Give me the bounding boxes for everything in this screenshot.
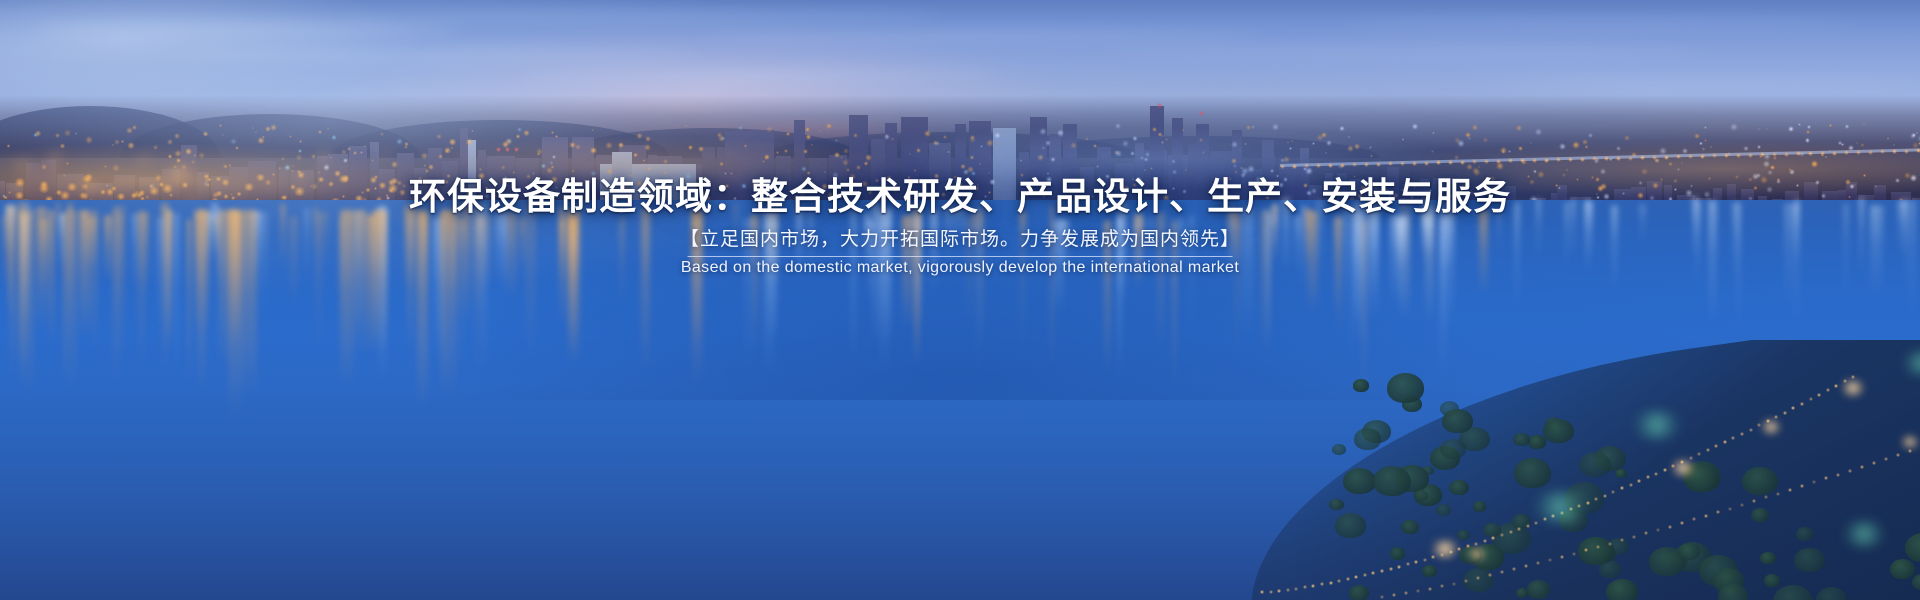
lit-garden — [1840, 520, 1888, 548]
bridge-reflection — [1282, 197, 1290, 274]
light-reflection — [1118, 202, 1128, 307]
bridge-lamp — [1592, 156, 1597, 161]
tree — [1751, 508, 1769, 523]
promenade-lamp — [1884, 457, 1888, 461]
light-reflection — [1188, 215, 1195, 329]
bridge-lamp — [1568, 157, 1573, 162]
light-reflection — [459, 219, 464, 378]
promenade-lamp — [1277, 589, 1281, 593]
light-reflection — [1479, 209, 1488, 295]
light-reflection — [1272, 204, 1278, 264]
tree — [1349, 585, 1369, 600]
tree — [1353, 379, 1369, 391]
promenade-lamp — [1632, 535, 1636, 539]
bridge-reflection — [1564, 202, 1570, 271]
light-reflection — [880, 208, 892, 342]
bright-reflection — [440, 210, 446, 398]
bridge-reflection — [1446, 198, 1451, 271]
promenade-lamp — [1603, 494, 1607, 498]
tree — [1794, 548, 1825, 573]
bridge-lamp — [1868, 150, 1873, 155]
promenade-lamp — [1896, 453, 1900, 457]
tree — [1678, 543, 1700, 561]
bridge-lamp — [1904, 149, 1909, 154]
promenade-lamp — [1800, 402, 1804, 406]
light-reflection — [1496, 210, 1503, 249]
tree — [1543, 419, 1574, 443]
light-reflection — [1235, 211, 1242, 261]
light-reflection — [1050, 205, 1054, 376]
bridge-reflection — [1514, 202, 1520, 307]
promenade-lamp — [1706, 448, 1710, 452]
bridge-lamp — [1448, 160, 1453, 165]
tree — [1343, 468, 1377, 495]
promenade-lamp — [1397, 565, 1401, 569]
tree — [1764, 574, 1780, 587]
light-reflection — [174, 213, 179, 379]
bright-reflection — [241, 210, 257, 400]
light-reflection — [1390, 215, 1401, 304]
tree — [1329, 499, 1343, 510]
bridge-lamp — [1736, 153, 1741, 158]
light-reflection — [156, 217, 165, 331]
promenade-lamp — [1872, 461, 1876, 465]
promenade-lamp — [1608, 542, 1612, 546]
bridge-lamp — [1340, 163, 1345, 168]
light-reflection — [868, 220, 873, 304]
promenade-lamp — [1663, 468, 1667, 472]
light-reflection — [258, 212, 269, 311]
tree — [1473, 501, 1486, 511]
lit-garden — [1630, 410, 1684, 440]
bridge-reflection — [1639, 204, 1646, 245]
promenade-lamp — [1908, 449, 1912, 453]
bridge-lamp — [1880, 149, 1885, 154]
tree — [1332, 444, 1346, 455]
tree — [1457, 530, 1471, 541]
tree — [1483, 523, 1501, 537]
promenade-lamp — [1788, 488, 1792, 492]
bridge-reflection — [1708, 200, 1717, 326]
bridge-lamp — [1892, 149, 1897, 154]
bridge-lamp — [1316, 163, 1321, 168]
bridge-lamp — [1580, 157, 1585, 162]
light-reflection — [1266, 210, 1270, 357]
promenade-lamp — [1526, 524, 1530, 528]
light-reflection — [915, 213, 922, 328]
bridge-reflection — [1898, 200, 1907, 255]
tree — [1514, 458, 1552, 488]
bridge-lamp — [1844, 150, 1849, 155]
lit-structure — [1468, 548, 1486, 560]
bridge-reflection — [1360, 202, 1368, 306]
light-reflection — [796, 207, 804, 281]
bright-reflection — [90, 210, 98, 354]
promenade-lamp — [1260, 590, 1264, 594]
bridge-lamp — [1616, 156, 1621, 161]
bridge-reflection — [1878, 205, 1884, 298]
bridge-lamp — [1460, 160, 1465, 165]
promenade-lamp — [1848, 469, 1852, 473]
promenade-lamp — [1783, 411, 1787, 415]
bridge-lamp — [1808, 151, 1813, 156]
light-reflection — [850, 206, 856, 367]
promenade-lamp — [1704, 514, 1708, 518]
promenade-lamp — [1572, 552, 1576, 556]
light-reflection — [619, 217, 626, 305]
promenade-lamp — [1346, 577, 1350, 581]
promenade-lamp — [1656, 528, 1660, 532]
bridge-lamp — [1520, 158, 1525, 163]
light-reflection — [1104, 220, 1111, 377]
bright-reflection — [354, 210, 367, 357]
bridge-reflection — [1536, 198, 1541, 260]
bridge-lamp — [1496, 159, 1501, 164]
bridge-lamp — [1748, 153, 1753, 158]
bridge-lamp — [1724, 153, 1729, 158]
tree — [1335, 513, 1367, 538]
light-reflection — [930, 210, 938, 291]
bridge-lamp — [1532, 158, 1537, 163]
bridge-lamp — [1304, 163, 1309, 168]
bright-reflection — [22, 210, 34, 397]
bridge-reflection — [1694, 201, 1701, 286]
bridge-reflection — [1843, 203, 1849, 295]
promenade-lamp — [1629, 483, 1633, 487]
bridge-lamp — [1772, 152, 1777, 157]
tree — [1390, 547, 1406, 560]
bridge-reflection — [1586, 202, 1593, 260]
tree — [1760, 552, 1776, 565]
bridge-lamp — [1856, 150, 1861, 155]
bridge-lamp — [1760, 152, 1765, 157]
tree — [1436, 504, 1451, 516]
hero-banner: 环保设备制造领域：整合技术研发、产品设计、生产、安装与服务 【立足国内市场，大力… — [0, 0, 1920, 600]
tree — [1579, 452, 1611, 477]
promenade-lamp — [1534, 521, 1538, 525]
light-reflection — [36, 207, 47, 332]
promenade-lamp — [1836, 473, 1840, 477]
light-reflection — [187, 219, 191, 385]
bridge-reflection — [1316, 199, 1324, 272]
light-reflection — [743, 218, 755, 379]
promenade-lamp — [1509, 530, 1513, 534]
promenade-lamp — [1464, 579, 1468, 583]
lit-structure — [1840, 380, 1866, 396]
promenade-lamp — [1740, 432, 1744, 436]
bridge-lamp — [1544, 158, 1549, 163]
bridge-lamp — [1832, 151, 1837, 156]
bright-reflection — [197, 210, 207, 394]
bridge-lamp — [1712, 153, 1717, 158]
tree — [1387, 373, 1425, 403]
bridge-lamp — [1424, 161, 1429, 166]
light-reflection — [1054, 219, 1064, 314]
bridge-reflection — [1300, 205, 1307, 288]
right-headland — [1200, 340, 1920, 600]
promenade-lamp — [1817, 393, 1821, 397]
tree — [1401, 520, 1420, 535]
bridge-lamp — [1436, 160, 1441, 165]
bright-reflection — [65, 210, 77, 394]
bridge-lamp — [1328, 163, 1333, 168]
bridge-lamp — [1556, 157, 1561, 162]
bridge-lamp — [1676, 154, 1681, 159]
bridge-reflection — [1571, 199, 1577, 258]
lit-garden — [1530, 490, 1590, 524]
bridge-reflection — [1373, 199, 1377, 284]
light-reflection — [495, 213, 506, 284]
bridge — [1280, 150, 1920, 190]
light-reflection — [7, 207, 12, 313]
bridge-lamp — [1700, 154, 1705, 159]
tree — [1527, 580, 1551, 599]
promenade-lamp — [1380, 595, 1384, 599]
bridge-lamp — [1484, 159, 1489, 164]
light-reflection — [976, 206, 981, 383]
promenade-lamp — [1428, 587, 1432, 591]
bright-reflection — [228, 210, 242, 419]
light-reflection — [733, 203, 738, 252]
light-reflection — [1336, 216, 1342, 339]
bridge-lamp — [1388, 161, 1393, 166]
bright-reflection — [79, 210, 91, 338]
tree — [1449, 480, 1469, 496]
bridge-lamp — [1784, 152, 1789, 157]
promenade-lamp — [1452, 582, 1456, 586]
bridge-reflection — [1611, 205, 1619, 289]
light-reflection — [104, 215, 112, 283]
lit-structure — [1670, 460, 1696, 476]
bright-reflection — [372, 210, 387, 354]
bridge-lamp — [1280, 164, 1285, 169]
bridge-lamp — [1664, 155, 1669, 160]
tree — [1615, 469, 1627, 478]
light-reflection — [137, 211, 146, 372]
light-reflection — [525, 203, 536, 361]
promenade-lamp — [1294, 587, 1298, 591]
light-reflection — [56, 203, 60, 240]
bright-reflection — [445, 210, 457, 401]
promenade-lamp — [1740, 503, 1744, 507]
promenade-lamp — [1500, 533, 1504, 537]
bridge-reflection — [1736, 202, 1740, 325]
light-reflection — [320, 211, 329, 268]
lit-structure — [1760, 420, 1782, 434]
bridge-lamp — [1364, 162, 1369, 167]
bridge-lamp — [1628, 156, 1633, 161]
light-reflection — [313, 207, 318, 254]
light-reflection — [1157, 212, 1166, 353]
bridge-reflection — [1784, 203, 1793, 310]
tree — [1516, 588, 1528, 598]
bridge-lamp — [1376, 162, 1381, 167]
promenade-lamp — [1423, 558, 1427, 562]
lit-structure — [1900, 436, 1920, 448]
bridge-lamp — [1640, 155, 1645, 160]
light-reflection — [304, 208, 310, 276]
bridge-lamp — [1412, 161, 1417, 166]
promenade-lamp — [1728, 507, 1732, 511]
light-reflection — [480, 215, 490, 293]
tree — [1796, 527, 1814, 541]
promenade-lamp — [1286, 588, 1290, 592]
tree — [1414, 490, 1428, 501]
promenade-lamp — [1689, 456, 1693, 460]
tree — [1422, 565, 1437, 577]
promenade-lamp — [1723, 440, 1727, 444]
light-reflection — [909, 211, 914, 259]
light-reflection — [944, 204, 954, 262]
bridge-lamp — [1916, 148, 1920, 153]
promenade-lamp — [1860, 465, 1864, 469]
light-reflection — [807, 210, 814, 279]
light-reflection — [954, 207, 965, 240]
bridge-lamp — [1472, 159, 1477, 164]
tree — [1606, 579, 1638, 600]
bridge-reflection — [1343, 204, 1349, 307]
bridge-lamp — [1604, 156, 1609, 161]
light-reflection — [1147, 217, 1154, 266]
promenade-lamp — [1560, 555, 1564, 559]
light-reflection — [641, 208, 650, 372]
promenade-lamp — [1474, 542, 1478, 546]
light-reflection — [1020, 212, 1026, 246]
tree — [1742, 467, 1778, 496]
tree — [1354, 428, 1381, 450]
promenade-lamp — [1596, 545, 1600, 549]
light-reflection — [289, 216, 298, 312]
bright-reflection — [166, 210, 173, 351]
light-reflection — [1134, 215, 1143, 289]
bridge-lamp — [1652, 155, 1657, 160]
lit-structure — [1430, 540, 1460, 558]
bridge-lamp — [1292, 164, 1297, 169]
light-reflection — [763, 208, 775, 376]
bridge-lamp — [1688, 154, 1693, 159]
light-reflection — [112, 207, 121, 385]
promenade-lamp — [1269, 590, 1273, 594]
bright-reflection — [407, 210, 414, 355]
light-reflection — [1178, 217, 1184, 283]
bright-reflection — [568, 210, 580, 364]
light-reflection — [281, 204, 285, 268]
tree — [1513, 433, 1530, 446]
bridge-lamp — [1796, 151, 1801, 156]
promenade-lamp — [1809, 397, 1813, 401]
promenade-lamp — [1483, 539, 1487, 543]
promenade-lamp — [1389, 567, 1393, 571]
promenade-lamp — [1654, 472, 1658, 476]
bridge-lamp — [1400, 161, 1405, 166]
promenade-lamp — [1776, 492, 1780, 496]
tree — [1440, 439, 1466, 460]
light-reflection — [1172, 220, 1176, 390]
tree — [1528, 435, 1546, 449]
light-reflection — [132, 213, 137, 294]
promenade-lamp — [1517, 527, 1521, 531]
promenade-lamp — [1680, 521, 1684, 525]
light-reflection — [1242, 207, 1254, 339]
bridge-lamp — [1508, 158, 1513, 163]
tree — [1890, 559, 1915, 579]
bridge-lamp — [1352, 162, 1357, 167]
bright-reflection — [48, 210, 55, 348]
bright-reflection — [417, 210, 428, 411]
bright-reflection — [340, 210, 354, 388]
bridge-reflection — [1425, 206, 1434, 323]
promenade-lamp — [1329, 581, 1333, 585]
promenade-lamp — [1668, 525, 1672, 529]
bright-reflection — [691, 210, 703, 391]
bridge-lamp — [1820, 151, 1825, 156]
tree — [1442, 409, 1472, 433]
bridge-reflection — [1794, 198, 1800, 323]
bridge-reflection — [1859, 197, 1864, 273]
tree — [1373, 466, 1411, 497]
light-reflection — [1228, 203, 1234, 287]
light-reflection — [506, 212, 518, 301]
promenade-lamp — [1749, 428, 1753, 432]
bridge-reflection — [1909, 200, 1917, 317]
